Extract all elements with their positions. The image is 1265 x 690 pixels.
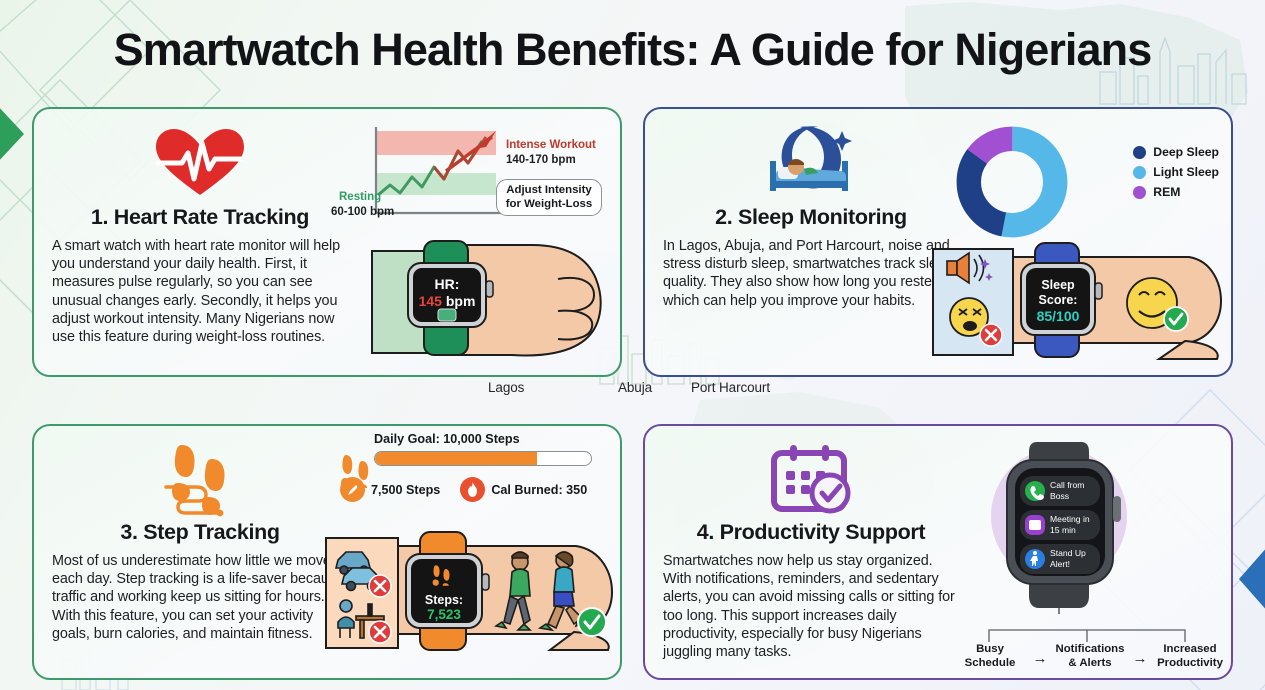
panel-1-heading: 1. Heart Rate Tracking xyxy=(52,205,348,230)
legend-dot-deep-sleep xyxy=(1133,146,1146,159)
flow-node-increased-productivity: Increased Productivity xyxy=(1153,643,1227,670)
city-label-port-harcourt: Port Harcourt xyxy=(691,380,770,395)
left-chevron-decoration xyxy=(0,104,24,164)
flow-connector-lines xyxy=(959,618,1215,644)
panel-step-tracking: 3. Step Tracking Most of us underestimat… xyxy=(32,424,622,680)
zone-high-value: 140-170 bpm xyxy=(506,154,576,167)
panel-3-text-block: 3. Step Tracking Most of us underestimat… xyxy=(52,440,348,643)
panel-heart-rate-tracking: 1. Heart Rate Tracking A smart watch wit… xyxy=(32,107,622,377)
watch-sleep-line-1: Sleep xyxy=(1041,278,1075,292)
watch-sleep-score: 85/100 xyxy=(1037,308,1080,324)
calories-burned: Cal Burned: 350 xyxy=(491,483,587,497)
panel-4-visual: Call from Boss Meeting in 15 min Stand U… xyxy=(941,426,1231,678)
hand-with-green-watch: HR: 145 bpm xyxy=(332,227,618,367)
flow-node-3-line-1: Increased xyxy=(1153,643,1227,656)
notif-2-line-2: 15 min xyxy=(1050,525,1076,535)
panel-1-body: A smart watch with heart rate monitor wi… xyxy=(52,237,348,346)
notif-3-line-2: Alert! xyxy=(1050,559,1070,569)
heart-rate-zone-chart: Intense Workout 140-170 bpm Resting 60-1… xyxy=(334,123,618,227)
flow-node-2-line-2: & Alerts xyxy=(1053,657,1127,670)
flow-node-2-line-1: Notifications xyxy=(1053,643,1127,656)
panel-4-body: Smartwatches now help us stay organized.… xyxy=(663,552,959,661)
zone-high-label: Intense Workout xyxy=(506,139,596,152)
step-stats: Daily Goal: 10,000 Steps 7,500 Ste xyxy=(338,432,618,502)
footsteps-icon xyxy=(52,440,348,518)
flow-node-3-line-2: Productivity xyxy=(1153,657,1227,670)
city-labels: Lagos Abuja Port Harcourt xyxy=(0,380,1265,400)
callout-line-1: Adjust Intensity xyxy=(505,184,593,198)
watch-hr-value: 145 bpm xyxy=(419,293,476,309)
step-progress-fill xyxy=(375,452,537,465)
legend-label-deep-sleep: Deep Sleep xyxy=(1153,145,1219,159)
panel-4-heading: 4. Productivity Support xyxy=(663,520,959,545)
notif-1-line-2: Boss xyxy=(1050,491,1069,501)
watch-steps-value: 7,523 xyxy=(427,607,461,622)
watch-hr-label: HR: xyxy=(435,276,460,292)
flow-node-1-line-2: Schedule xyxy=(953,657,1027,670)
flame-icon xyxy=(460,477,485,502)
notif-3-line-1: Stand Up xyxy=(1050,548,1086,558)
legend-dot-rem xyxy=(1133,186,1146,199)
panel-1-visual: Intense Workout 140-170 bpm Resting 60-1… xyxy=(330,109,620,375)
donut-slice-rem xyxy=(969,139,1055,225)
panel-3-visual: Daily Goal: 10,000 Steps 7,500 Ste xyxy=(330,426,620,678)
daily-goal-label: Daily Goal: 10,000 Steps xyxy=(374,432,618,446)
adjust-intensity-callout: Adjust Intensity for Weight-Loss xyxy=(496,179,602,216)
callout-line-2: for Weight-Loss xyxy=(505,198,593,212)
smartwatch-notifications: Call from Boss Meeting in 15 min Stand U… xyxy=(959,434,1215,614)
sleep-legend: Deep Sleep Light Sleep REM xyxy=(1133,145,1219,205)
step-progress-bar xyxy=(374,451,592,466)
panel-4-text-block: 4. Productivity Support Smartwatches now… xyxy=(663,440,959,661)
calendar-check-icon xyxy=(663,440,959,518)
right-chevron-decoration xyxy=(1239,545,1265,613)
panel-2-text-block: 2. Sleep Monitoring In Lagos, Abuja, and… xyxy=(663,123,959,310)
notif-2-line-1: Meeting in xyxy=(1050,514,1090,524)
legend-label-rem: REM xyxy=(1153,185,1180,199)
flow-arrow-2: → xyxy=(1133,643,1148,667)
calories-stat: Cal Burned: 350 xyxy=(460,477,587,502)
legend-item-rem: REM xyxy=(1133,185,1219,199)
panel-1-text-block: 1. Heart Rate Tracking A smart watch wit… xyxy=(52,123,348,346)
heart-pulse-icon xyxy=(52,123,348,201)
city-label-abuja: Abuja xyxy=(618,380,652,395)
zone-low-value: 60-100 bpm xyxy=(331,206,394,219)
panel-3-heading: 3. Step Tracking xyxy=(52,520,348,545)
panel-productivity-support: 4. Productivity Support Smartwatches now… xyxy=(643,424,1233,680)
panel-2-visual: Deep Sleep Light Sleep REM xyxy=(941,109,1231,375)
panel-3-body: Most of us underestimate how little we m… xyxy=(52,552,348,643)
watch-sleep-line-2: Score: xyxy=(1039,293,1078,307)
legend-label-light-sleep: Light Sleep xyxy=(1153,165,1219,179)
watch-steps-label: Steps: xyxy=(425,593,463,607)
flow-node-1-line-1: Busy xyxy=(953,643,1027,656)
hand-with-orange-watch: Steps: 7,523 xyxy=(324,524,620,660)
footprints-small-icon xyxy=(340,453,370,489)
page-title: Smartwatch Health Benefits: A Guide for … xyxy=(0,24,1265,76)
sleep-stages-donut-chart xyxy=(955,125,1069,239)
hand-with-blue-watch: Sleep Score: 85/100 xyxy=(929,231,1229,367)
flow-node-notifications-alerts: Notifications & Alerts xyxy=(1053,643,1127,670)
moon-bed-icon xyxy=(663,123,959,201)
flow-node-busy-schedule: Busy Schedule xyxy=(953,643,1027,670)
zone-low-label: Resting xyxy=(339,191,381,204)
legend-item-deep-sleep: Deep Sleep xyxy=(1133,145,1219,159)
legend-item-light-sleep: Light Sleep xyxy=(1133,165,1219,179)
productivity-flow-diagram: Busy Schedule → Notifications & Alerts →… xyxy=(953,643,1227,670)
panel-sleep-monitoring: 2. Sleep Monitoring In Lagos, Abuja, and… xyxy=(643,107,1233,377)
notif-1-line-1: Call from xyxy=(1050,480,1084,490)
panel-2-heading: 2. Sleep Monitoring xyxy=(663,205,959,230)
legend-dot-light-sleep xyxy=(1133,166,1146,179)
city-label-lagos: Lagos xyxy=(488,380,524,395)
panel-2-body: In Lagos, Abuja, and Port Harcourt, nois… xyxy=(663,237,959,310)
flow-arrow-1: → xyxy=(1033,643,1048,667)
steps-count: 7,500 Steps xyxy=(371,483,440,497)
